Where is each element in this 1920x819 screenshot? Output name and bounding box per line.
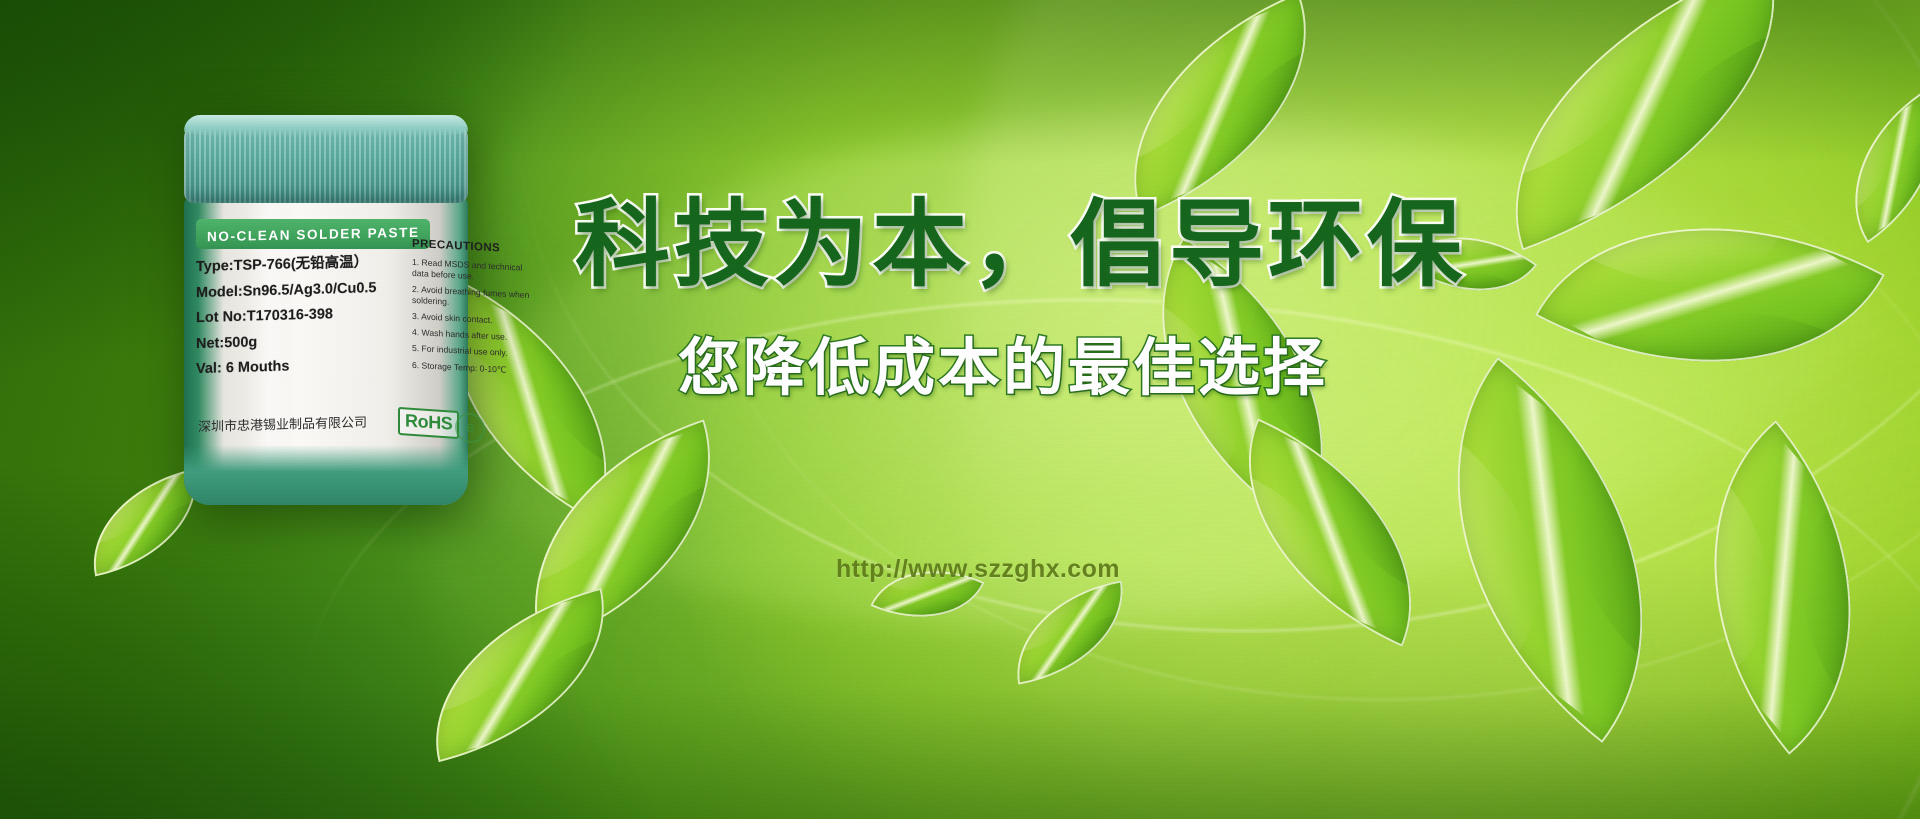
precautions-list: 1. Read MSDS and technical data before u… <box>412 257 532 377</box>
jar-lid <box>184 115 468 203</box>
precaution-item: 5. For industrial use only. <box>412 343 532 360</box>
label-spec-list: Type:TSP-766(无铅高温） Model:Sn96.5/Ag3.0/Cu… <box>196 257 416 385</box>
banner-subheadline: 您降低成本的最佳选择 <box>678 338 1328 400</box>
precaution-item: 2. Avoid breathing fumes when soldering. <box>412 284 532 312</box>
precaution-item: 6. Storage Temp: 0-10℃ <box>412 359 532 376</box>
promo-banner: NO-CLEAN SOLDER PASTE Type:TSP-766(无铅高温）… <box>0 0 1920 819</box>
product-jar-image: NO-CLEAN SOLDER PASTE Type:TSP-766(无铅高温）… <box>198 115 454 505</box>
precaution-item: 3. Avoid skin contact. <box>412 311 532 328</box>
banner-headline: 科技为本，倡导环保 <box>575 198 1466 293</box>
rohs-badge: RoHS <box>398 407 459 439</box>
label-field-type: Type:TSP-766(无铅高温） <box>196 254 416 275</box>
label-field-net: Net:500g <box>196 330 416 351</box>
label-field-model: Model:Sn96.5/Ag3.0/Cu0.5 <box>196 279 416 300</box>
label-title-text: NO-CLEAN SOLDER PASTE <box>207 224 420 243</box>
label-field-val: Val: 6 Mouths <box>196 356 416 377</box>
label-field-lot: Lot No:T170316-398 <box>196 305 416 326</box>
jar-lid-top-highlight <box>184 115 468 137</box>
label-title-band: NO-CLEAN SOLDER PASTE <box>196 219 430 249</box>
precaution-item: 4. Wash hands after use. <box>412 327 532 344</box>
label-company-name: 深圳市忠港锡业制品有限公司 <box>198 414 428 435</box>
product-label: NO-CLEAN SOLDER PASTE Type:TSP-766(无铅高温）… <box>212 219 474 477</box>
website-url[interactable]: http://www.szzghx.com <box>836 555 1120 584</box>
precaution-item: 1. Read MSDS and technical data before u… <box>412 257 532 285</box>
